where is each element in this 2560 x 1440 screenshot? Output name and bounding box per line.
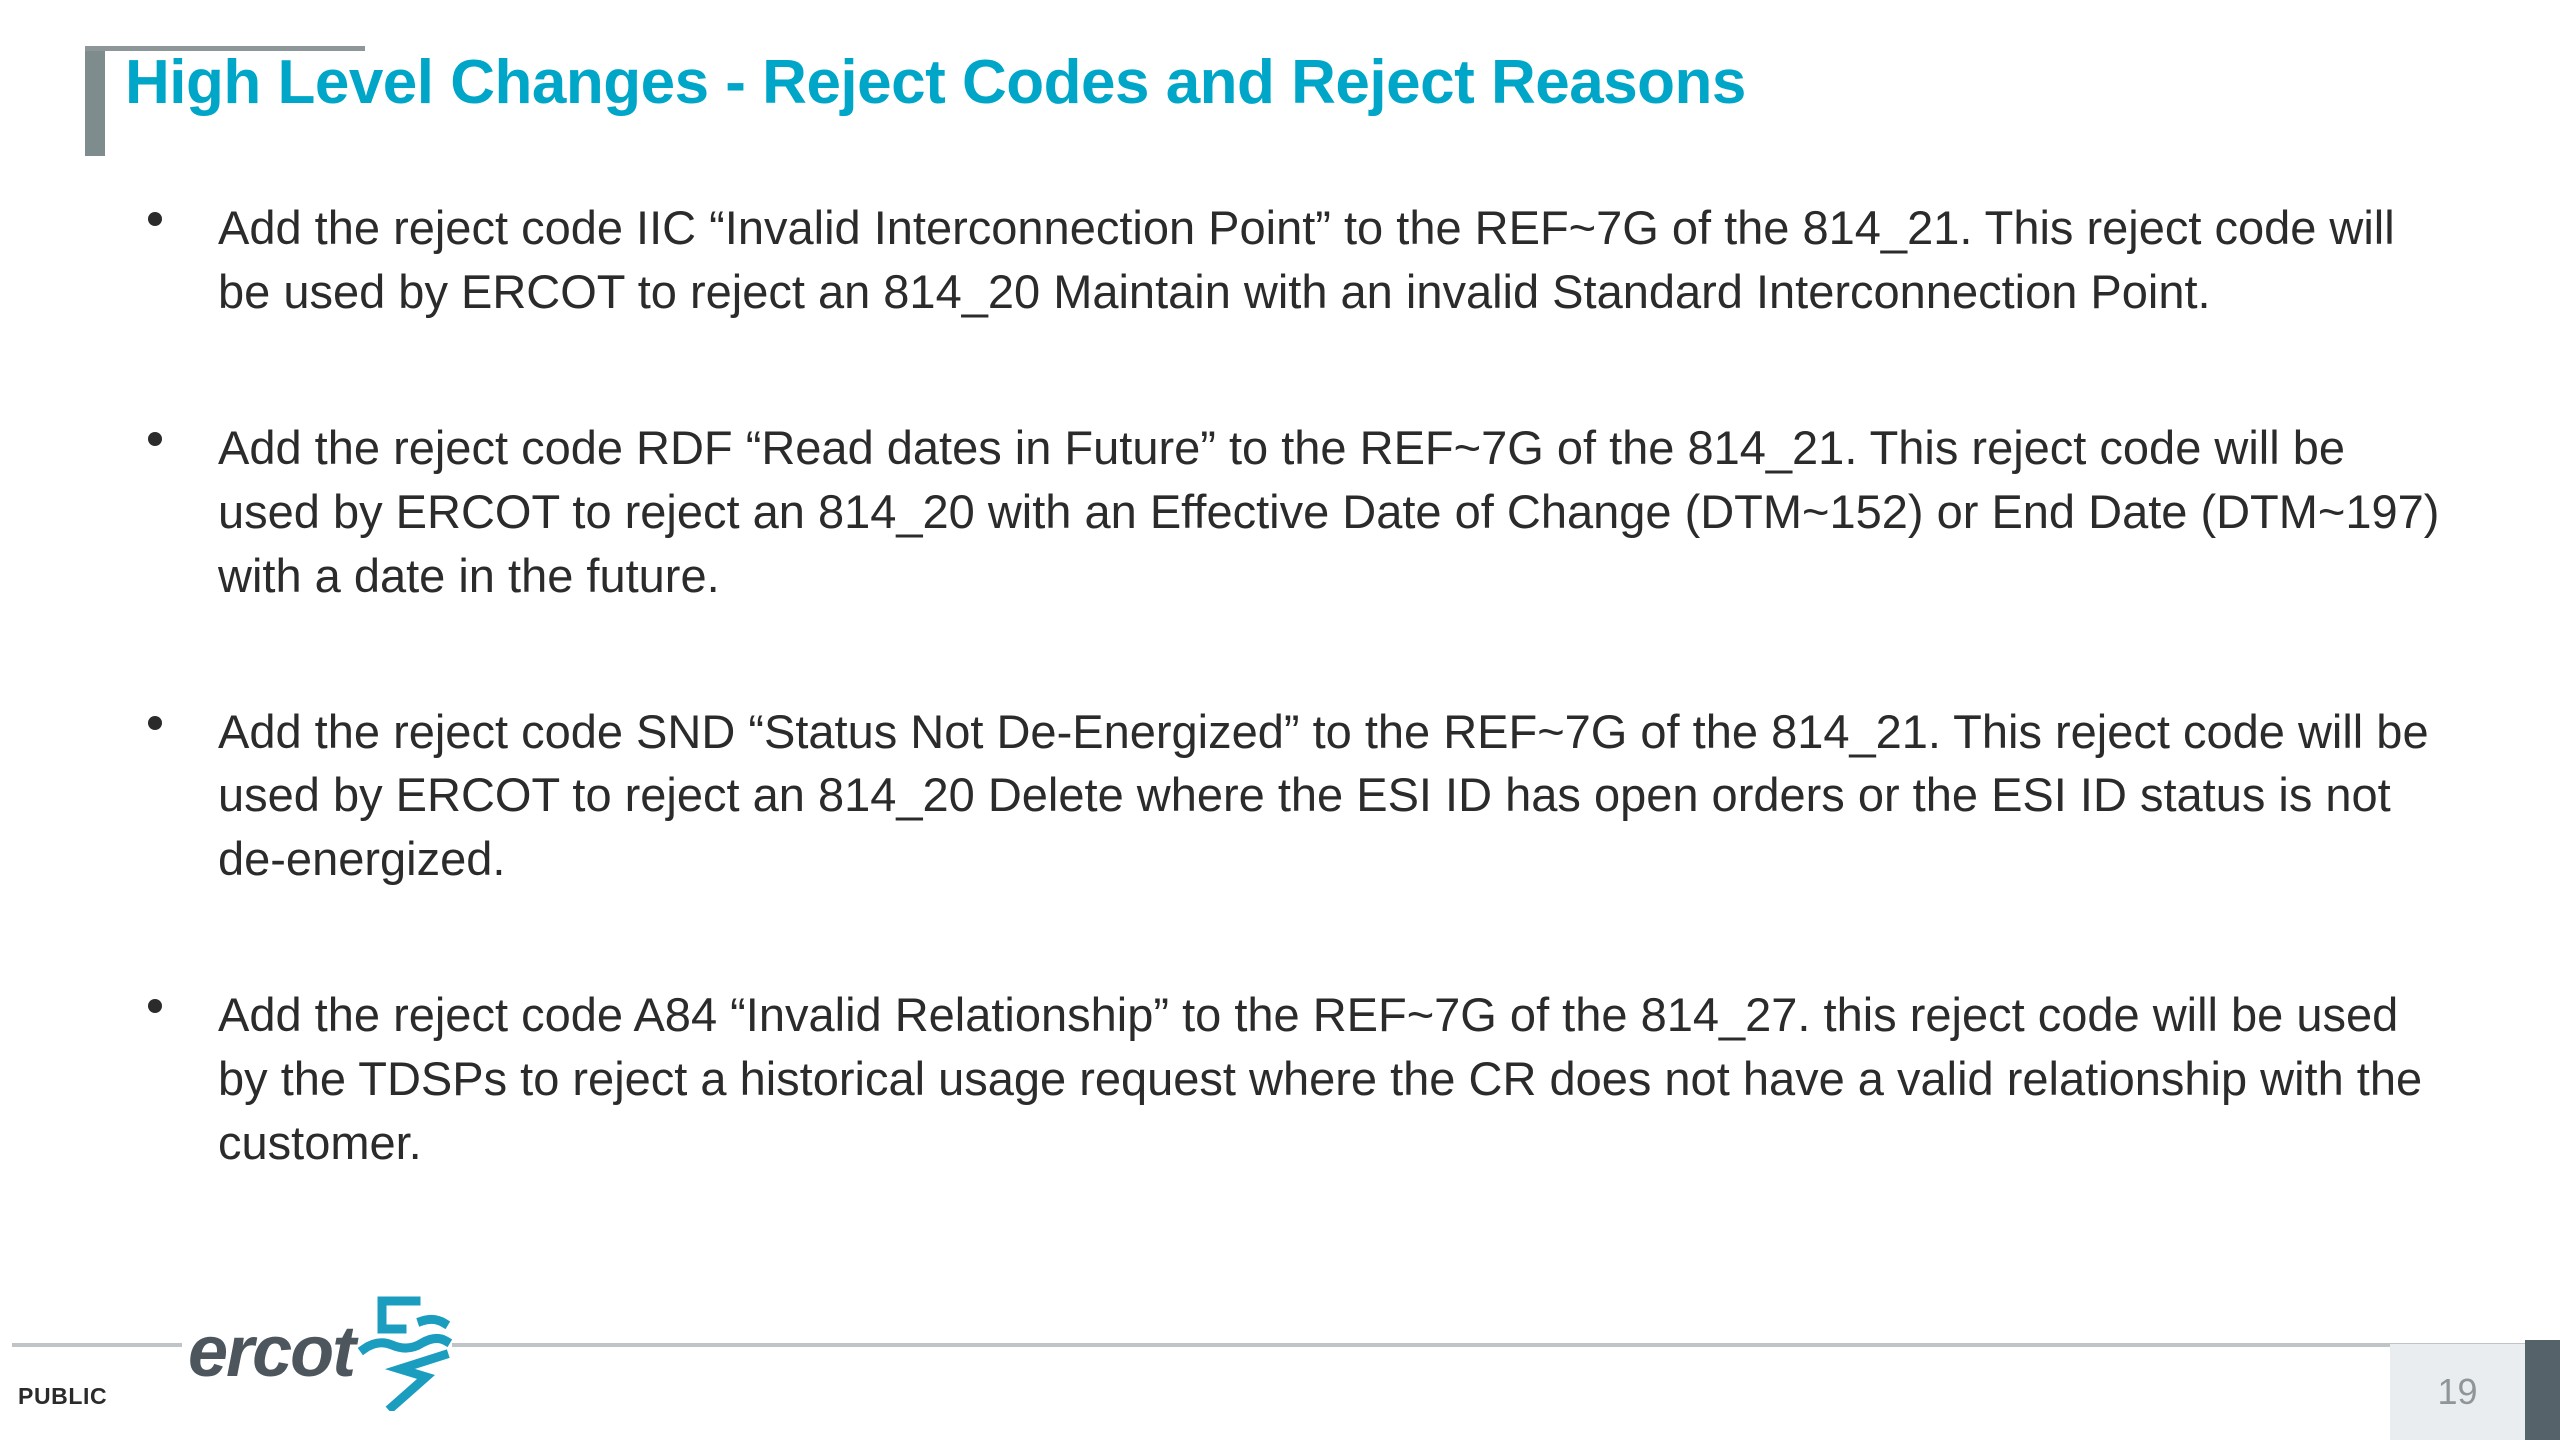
- footer-edge-bar: [2525, 1340, 2560, 1440]
- bullet-text: Add the reject code RDF “Read dates in F…: [218, 416, 2440, 608]
- bullet-text: Add the reject code IIC “Invalid Interco…: [218, 196, 2440, 324]
- list-item: Add the reject code IIC “Invalid Interco…: [0, 196, 2560, 324]
- list-item: Add the reject code SND “Status Not De-E…: [0, 700, 2560, 892]
- ercot-lightning-mark-icon: [356, 1291, 452, 1411]
- title-bracket-vertical-icon: [85, 46, 105, 156]
- footer-divider-left: [12, 1343, 182, 1347]
- footer-divider-right: [452, 1343, 2527, 1347]
- slide-canvas: High Level Changes - Reject Codes and Re…: [0, 0, 2560, 1440]
- bullet-dot-icon: [148, 716, 162, 730]
- bullet-text: Add the reject code SND “Status Not De-E…: [218, 700, 2440, 892]
- list-item: Add the reject code A84 “Invalid Relatio…: [0, 983, 2560, 1175]
- bullet-dot-icon: [148, 999, 162, 1013]
- bullet-text: Add the reject code A84 “Invalid Relatio…: [218, 983, 2440, 1175]
- bullet-list: Add the reject code IIC “Invalid Interco…: [0, 196, 2560, 1267]
- ercot-logo: ercot: [188, 1287, 458, 1412]
- slide-title-area: High Level Changes - Reject Codes and Re…: [0, 0, 2560, 170]
- page-number-badge: 19: [2390, 1344, 2525, 1440]
- slide-footer: PUBLIC ercot 19: [0, 1275, 2560, 1440]
- page-number: 19: [2437, 1371, 2477, 1413]
- bullet-dot-icon: [148, 432, 162, 446]
- ercot-wordmark: ercot: [188, 1311, 354, 1393]
- list-item: Add the reject code RDF “Read dates in F…: [0, 416, 2560, 608]
- bullet-dot-icon: [148, 212, 162, 226]
- classification-label: PUBLIC: [18, 1383, 107, 1410]
- page-title: High Level Changes - Reject Codes and Re…: [125, 50, 1746, 115]
